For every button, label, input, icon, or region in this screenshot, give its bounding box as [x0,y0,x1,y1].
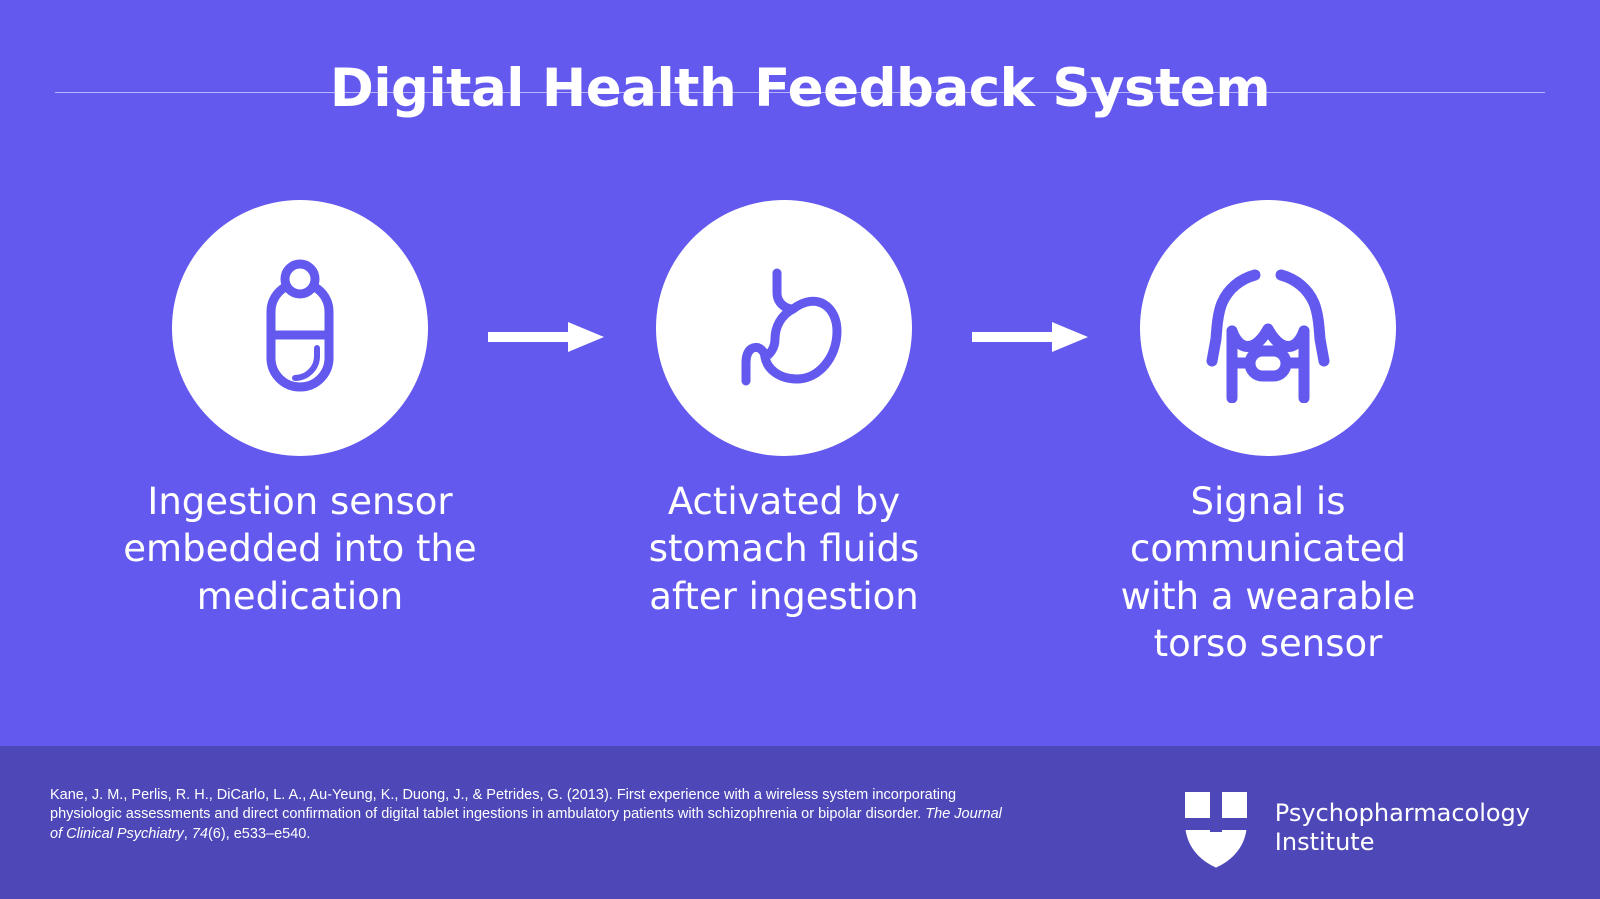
step-icon-circle-3 [1140,200,1396,456]
capsule-pill-icon [225,253,375,403]
connector-arrow-2 [972,320,1092,354]
citation-part-2: , [184,826,192,842]
step-caption-2: Activated by stomach fluids after ingest… [584,478,984,620]
citation-volume: 74 [192,826,208,842]
connector-arrow-1 [488,320,608,354]
step-icon-circle-2 [656,200,912,456]
step-caption-1: Ingestion sensor embedded into the medic… [100,478,500,620]
page-title: Digital Health Feedback System [0,60,1600,118]
brand-lockup: Psychopharmacology Institute [1177,782,1530,874]
citation-text: Kane, J. M., Perlis, R. H., DiCarlo, L. … [50,786,1010,844]
stomach-icon [709,253,859,403]
shield-logo-icon [1177,782,1255,874]
arrow-right-icon [488,320,608,354]
torso-wearable-sensor-icon [1188,253,1348,403]
slide-root: Digital Health Feedback System Ingestion… [0,0,1600,899]
brand-name: Psychopharmacology Institute [1275,799,1530,858]
footer-bar: Kane, J. M., Perlis, R. H., DiCarlo, L. … [0,746,1600,899]
citation-part-3: (6), e533–e540. [208,826,310,842]
step-item-1: Ingestion sensor embedded into the medic… [100,200,500,620]
step-item-2: Activated by stomach fluids after ingest… [584,200,984,620]
title-block: Digital Health Feedback System [0,60,1600,118]
steps-row: Ingestion sensor embedded into the medic… [0,200,1600,700]
title-divider [55,92,1545,93]
step-caption-3: Signal is communicated with a wearable t… [1068,478,1468,667]
step-icon-circle-1 [172,200,428,456]
citation-part-1: Kane, J. M., Perlis, R. H., DiCarlo, L. … [50,787,956,822]
step-item-3: Signal is communicated with a wearable t… [1068,200,1468,667]
arrow-right-icon [972,320,1092,354]
